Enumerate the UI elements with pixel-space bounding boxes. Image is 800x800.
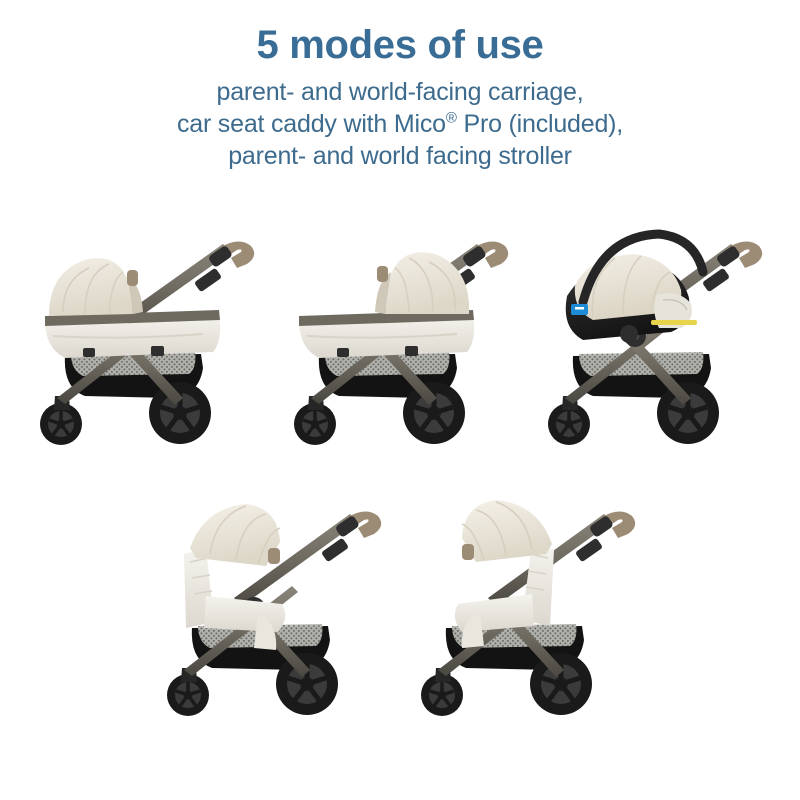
product-image-carriage-parent-facing (23, 228, 269, 468)
front-wheel (40, 396, 82, 445)
product-image-stroller-parent-facing (150, 492, 396, 732)
page-title: 5 modes of use (0, 20, 800, 70)
subhead-line-3: parent- and world facing stroller (0, 140, 800, 172)
front-wheel (294, 396, 336, 445)
canopy (462, 500, 552, 562)
headline-block: 5 modes of use parent- and world-facing … (0, 20, 800, 172)
front-wheel (548, 396, 590, 445)
front-wheel (421, 668, 463, 716)
subhead-block: parent- and world-facing carriage, car s… (0, 76, 800, 172)
rear-wheel (276, 653, 338, 715)
rear-wheel (530, 653, 592, 715)
front-wheel (167, 668, 209, 716)
rear-wheel (657, 382, 719, 444)
bassinet (45, 310, 220, 358)
canopy (190, 504, 280, 566)
registered-trademark-icon: ® (446, 110, 457, 127)
product-image-car-seat-caddy (531, 228, 777, 468)
product-row-top (0, 228, 800, 468)
product-image-carriage-world-facing (277, 228, 523, 468)
product-image-stroller-world-facing (404, 492, 650, 732)
subhead-line-2: car seat caddy with Mico® Pro (included)… (0, 108, 800, 140)
rear-wheel (403, 382, 465, 444)
subhead-line-2-text-a: car seat caddy with Mico (177, 110, 446, 138)
canopy (49, 258, 143, 316)
subhead-line-2-text-b: Pro (included), (457, 110, 623, 138)
infographic-page: 5 modes of use parent- and world-facing … (0, 0, 800, 800)
infant-car-seat (566, 234, 703, 343)
subhead-line-1: parent- and world-facing carriage, (0, 76, 800, 108)
rear-wheel (149, 382, 211, 444)
product-row-bottom (0, 492, 800, 732)
bassinet (299, 310, 474, 358)
